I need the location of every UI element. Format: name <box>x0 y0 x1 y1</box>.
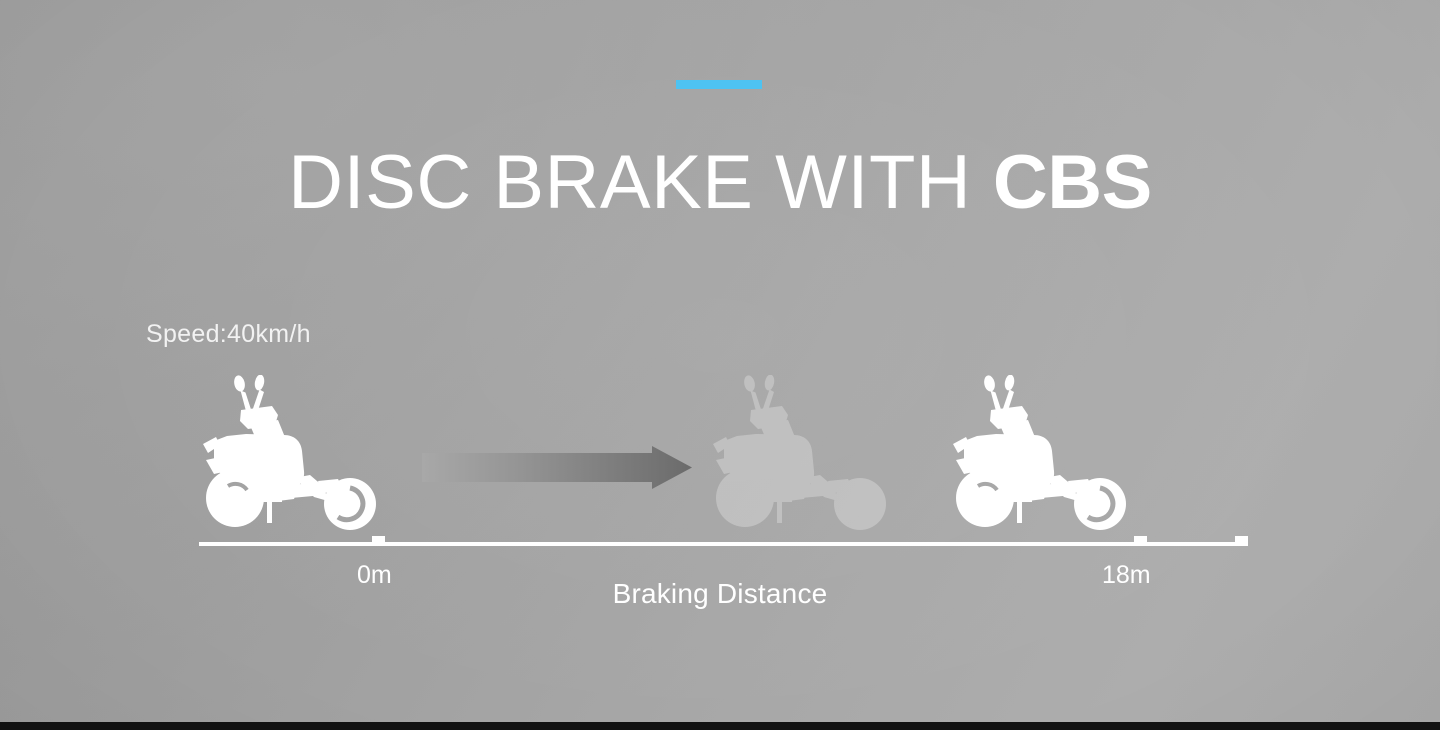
scooter-start <box>198 375 406 540</box>
scooter-end <box>948 375 1156 540</box>
distance-axis-line <box>199 542 1248 546</box>
motion-arrow-icon <box>420 446 694 490</box>
bottom-strip <box>0 722 1440 730</box>
accent-bar <box>676 80 762 89</box>
background-vignette <box>0 0 1440 730</box>
infographic-canvas: DISC BRAKE WITH CBS Speed:40km/h <box>0 0 1440 730</box>
axis-caption: Braking Distance <box>0 576 1440 612</box>
axis-tick-end <box>1134 536 1147 545</box>
axis-tick-start <box>372 536 385 545</box>
page-title: DISC BRAKE WITH CBS <box>0 135 1440 231</box>
page-title-bold: CBS <box>993 140 1152 225</box>
speed-label: Speed:40km/h <box>146 317 311 351</box>
axis-end-cap <box>1235 536 1248 545</box>
page-title-light: DISC BRAKE WITH <box>288 140 993 225</box>
scooter-ghost <box>708 375 916 540</box>
